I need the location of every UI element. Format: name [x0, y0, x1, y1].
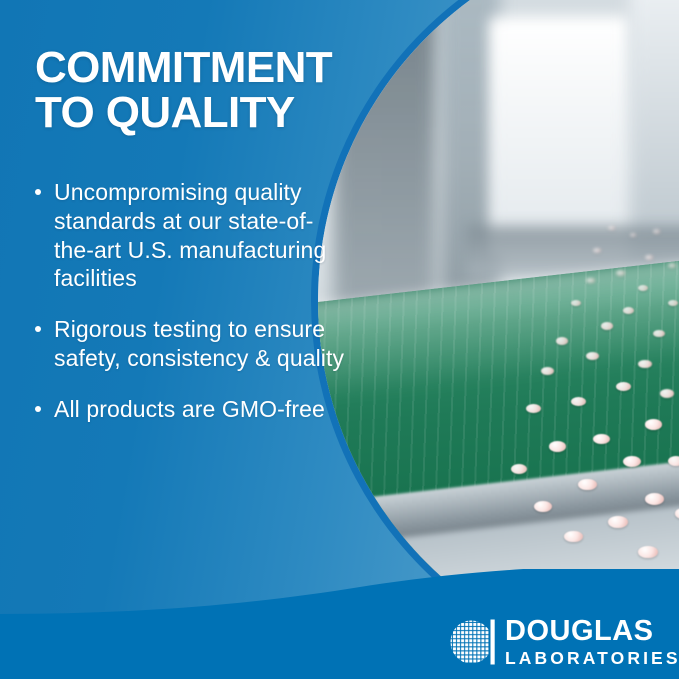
bullet-dot-icon	[35, 326, 41, 332]
tablet	[638, 360, 652, 369]
list-item-label: All products are GMO-free	[54, 396, 325, 422]
headline-line-2: TO QUALITY	[35, 91, 365, 136]
tablet	[511, 464, 527, 474]
benefits-list: Uncompromising quality standards at our …	[32, 178, 352, 445]
tablet	[668, 300, 678, 306]
tablet	[586, 352, 599, 360]
douglas-grid-circle-icon	[449, 619, 495, 665]
tablet	[593, 248, 601, 253]
tablet	[653, 229, 660, 233]
tablet	[549, 441, 566, 452]
list-item: Rigorous testing to ensure safety, consi…	[32, 315, 352, 373]
brand-name: DOUGLAS	[505, 617, 679, 645]
tablet	[645, 419, 662, 430]
tablet	[638, 546, 658, 558]
tablet	[601, 322, 613, 329]
tablet	[616, 270, 625, 276]
brand-subtitle: LABORATORIES®	[505, 645, 679, 668]
brand-wordmark: DOUGLAS LABORATORIES®	[505, 617, 679, 668]
brand-logo: DOUGLAS LABORATORIES®	[449, 617, 665, 667]
photo-background-machine	[489, 17, 630, 255]
page-title: COMMITMENT TO QUALITY	[35, 46, 365, 136]
brand-subtitle-text: LABORATORIES	[505, 648, 679, 668]
tablet	[653, 330, 665, 337]
copy-block: COMMITMENT TO QUALITY Uncompromising qua…	[0, 0, 360, 600]
tablet	[564, 531, 583, 543]
tablet	[586, 278, 595, 284]
list-item-label: Uncompromising quality standards at our …	[54, 179, 326, 291]
list-item: Uncompromising quality standards at our …	[32, 178, 352, 293]
tablet	[571, 397, 586, 406]
tablet	[556, 337, 568, 344]
bullet-dot-icon	[35, 406, 41, 412]
infographic-canvas: COMMITMENT TO QUALITY Uncompromising qua…	[0, 0, 679, 679]
tablet	[668, 263, 676, 268]
tablet	[608, 226, 615, 230]
tablet	[534, 501, 552, 512]
headline-line-1: COMMITMENT	[35, 43, 332, 92]
bullet-dot-icon	[35, 189, 41, 195]
tablet	[616, 382, 631, 391]
list-item: All products are GMO-free	[32, 395, 352, 424]
list-item-label: Rigorous testing to ensure safety, consi…	[54, 316, 344, 371]
